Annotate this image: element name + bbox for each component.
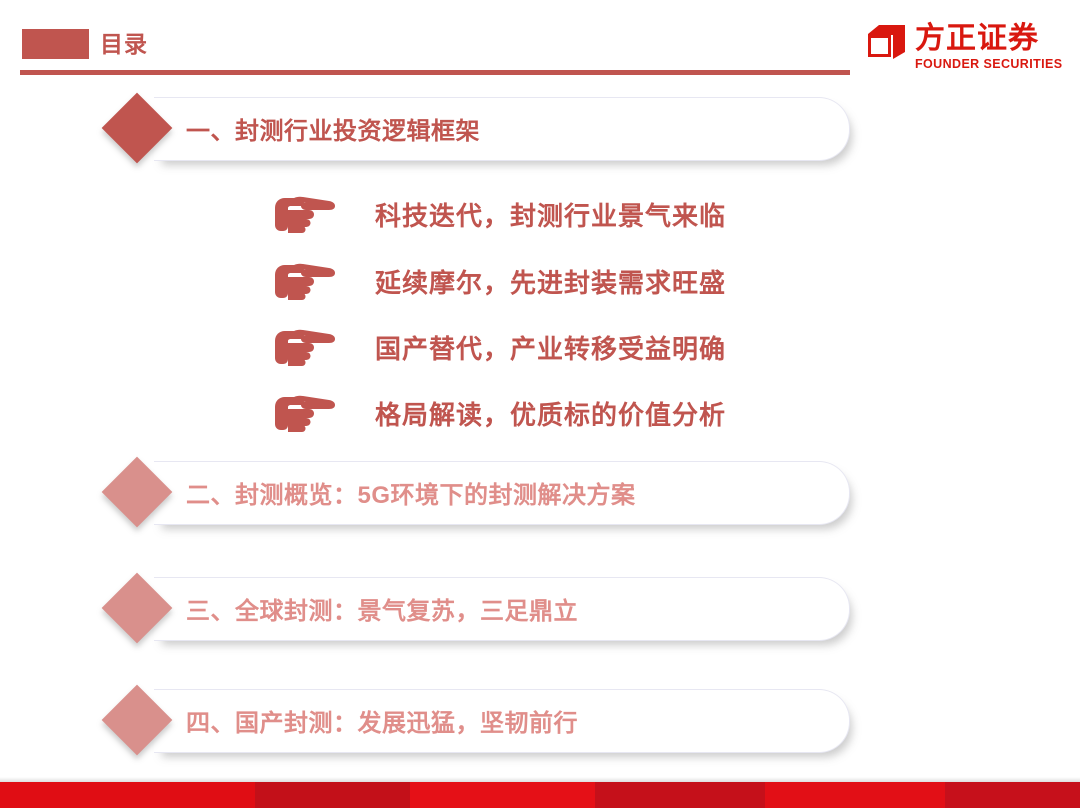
toc-section-label: 二、封测概览：5G环境下的封测解决方案 xyxy=(186,461,636,523)
header-accent-block xyxy=(22,29,89,59)
sub-bullet-3[interactable]: 国产替代，产业转移受益明确 xyxy=(273,325,726,369)
sub-bullet-label: 国产替代，产业转移受益明确 xyxy=(339,329,726,366)
sub-bullet-label: 格局解读，优质标的价值分析 xyxy=(339,395,726,432)
slide-root: 目录 方正证券 FOUNDER SECURITIES 一、封测行业投资逻辑框架 xyxy=(0,0,1080,808)
pointing-hand-icon xyxy=(273,261,339,301)
toc-section-label: 四、国产封测：发展迅猛，坚韧前行 xyxy=(186,689,578,751)
footer-segment-6 xyxy=(945,782,1080,808)
toc-section-3[interactable]: 三、全球封测：景气复苏，三足鼎立 xyxy=(112,577,849,639)
logo-company-name-en: FOUNDER SECURITIES xyxy=(915,57,1063,71)
pointing-hand-icon xyxy=(273,327,339,367)
brand-logo: 方正证券 FOUNDER SECURITIES xyxy=(867,22,1052,72)
sub-bullet-2[interactable]: 延续摩尔，先进封装需求旺盛 xyxy=(273,259,726,303)
pointing-hand-icon xyxy=(273,393,339,433)
footer-segment-3 xyxy=(410,782,595,808)
footer-segment-4 xyxy=(595,782,765,808)
toc-section-4[interactable]: 四、国产封测：发展迅猛，坚韧前行 xyxy=(112,689,849,751)
logo-company-name-cn: 方正证券 xyxy=(915,22,1039,56)
footer-band xyxy=(0,782,1080,808)
toc-section-label: 三、全球封测：景气复苏，三足鼎立 xyxy=(186,577,578,639)
header-divider xyxy=(20,70,850,75)
footer-segment-2 xyxy=(255,782,410,808)
sub-bullet-1[interactable]: 科技迭代，封测行业景气来临 xyxy=(273,192,726,236)
footer-segment-5 xyxy=(765,782,945,808)
footer-segment-1 xyxy=(0,782,255,808)
sub-bullet-label: 延续摩尔，先进封装需求旺盛 xyxy=(339,263,726,300)
toc-section-2[interactable]: 二、封测概览：5G环境下的封测解决方案 xyxy=(112,461,849,523)
sub-bullet-label: 科技迭代，封测行业景气来临 xyxy=(339,196,726,233)
pointing-hand-icon xyxy=(273,194,339,234)
page-title: 目录 xyxy=(100,29,148,59)
toc-section-label: 一、封测行业投资逻辑框架 xyxy=(186,97,480,159)
toc-section-1[interactable]: 一、封测行业投资逻辑框架 xyxy=(112,97,849,159)
sub-bullet-4[interactable]: 格局解读，优质标的价值分析 xyxy=(273,391,726,435)
founder-securities-logo-mark xyxy=(867,25,907,59)
